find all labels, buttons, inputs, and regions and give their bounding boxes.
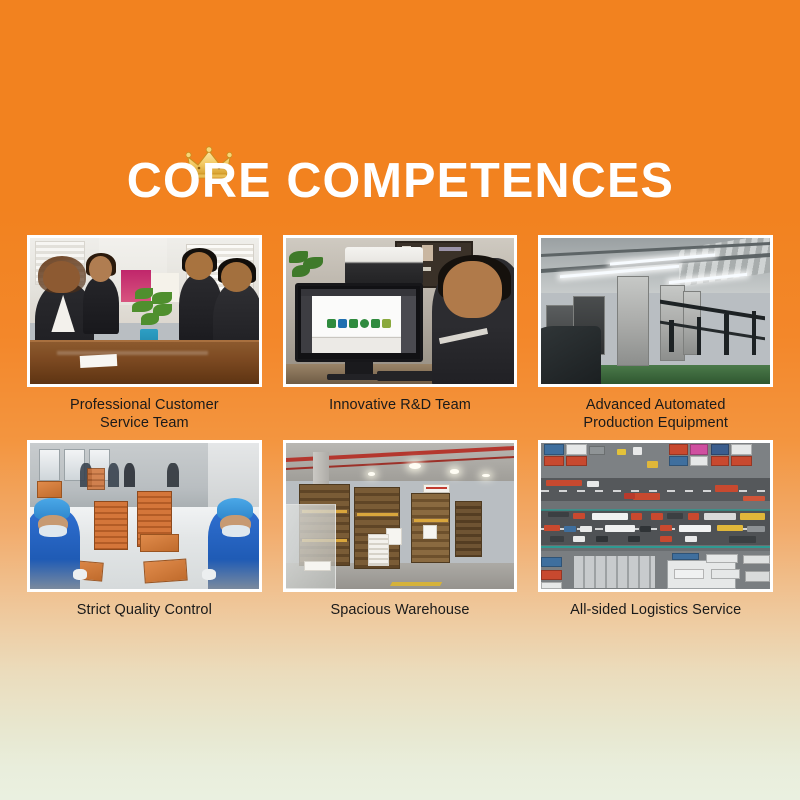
competences-grid: Professional Customer Service Team bbox=[27, 235, 773, 621]
competence-card-professional-customer-service-team[interactable]: Professional Customer Service Team bbox=[27, 235, 262, 432]
competence-card-advanced-automated-production-equipment[interactable]: Advanced Automated Production Equipment bbox=[538, 235, 773, 432]
designer-at-monitor-photo[interactable] bbox=[283, 235, 518, 387]
card-caption: Strict Quality Control bbox=[27, 601, 262, 621]
printing-press-photo[interactable] bbox=[538, 235, 773, 387]
card-caption: Professional Customer Service Team bbox=[27, 396, 262, 432]
card-caption: All-sided Logistics Service bbox=[538, 601, 773, 621]
card-caption: Advanced Automated Production Equipment bbox=[538, 396, 773, 432]
core-competences-banner: CORE COMPETENCES bbox=[0, 0, 800, 800]
caption-line: Innovative R&D Team bbox=[283, 396, 518, 414]
caption-line: Professional Customer bbox=[27, 396, 262, 414]
logistics-aerial-photo[interactable] bbox=[538, 440, 773, 592]
caption-line: Service Team bbox=[27, 414, 262, 432]
caption-line: Advanced Automated bbox=[538, 396, 773, 414]
card-caption: Spacious Warehouse bbox=[283, 601, 518, 621]
quality-control-photo[interactable] bbox=[27, 440, 262, 592]
warehouse-photo[interactable] bbox=[283, 440, 518, 592]
caption-line: Strict Quality Control bbox=[27, 601, 262, 619]
header: CORE COMPETENCES bbox=[0, 152, 800, 210]
competence-card-strict-quality-control[interactable]: Strict Quality Control bbox=[27, 440, 262, 621]
competence-card-spacious-warehouse[interactable]: Spacious Warehouse bbox=[283, 440, 518, 621]
grid-row: Strict Quality Control bbox=[27, 440, 773, 621]
competence-card-all-sided-logistics-service[interactable]: All-sided Logistics Service bbox=[538, 440, 773, 621]
caption-line: Production Equipment bbox=[538, 414, 773, 432]
caption-line: Spacious Warehouse bbox=[283, 601, 518, 619]
caption-line: All-sided Logistics Service bbox=[538, 601, 773, 619]
card-caption: Innovative R&D Team bbox=[283, 396, 518, 432]
page-title: CORE COMPETENCES bbox=[126, 152, 673, 210]
competence-card-innovative-rd-team[interactable]: Innovative R&D Team bbox=[283, 235, 518, 432]
meeting-room-photo[interactable] bbox=[27, 235, 262, 387]
grid-row: Professional Customer Service Team bbox=[27, 235, 773, 432]
